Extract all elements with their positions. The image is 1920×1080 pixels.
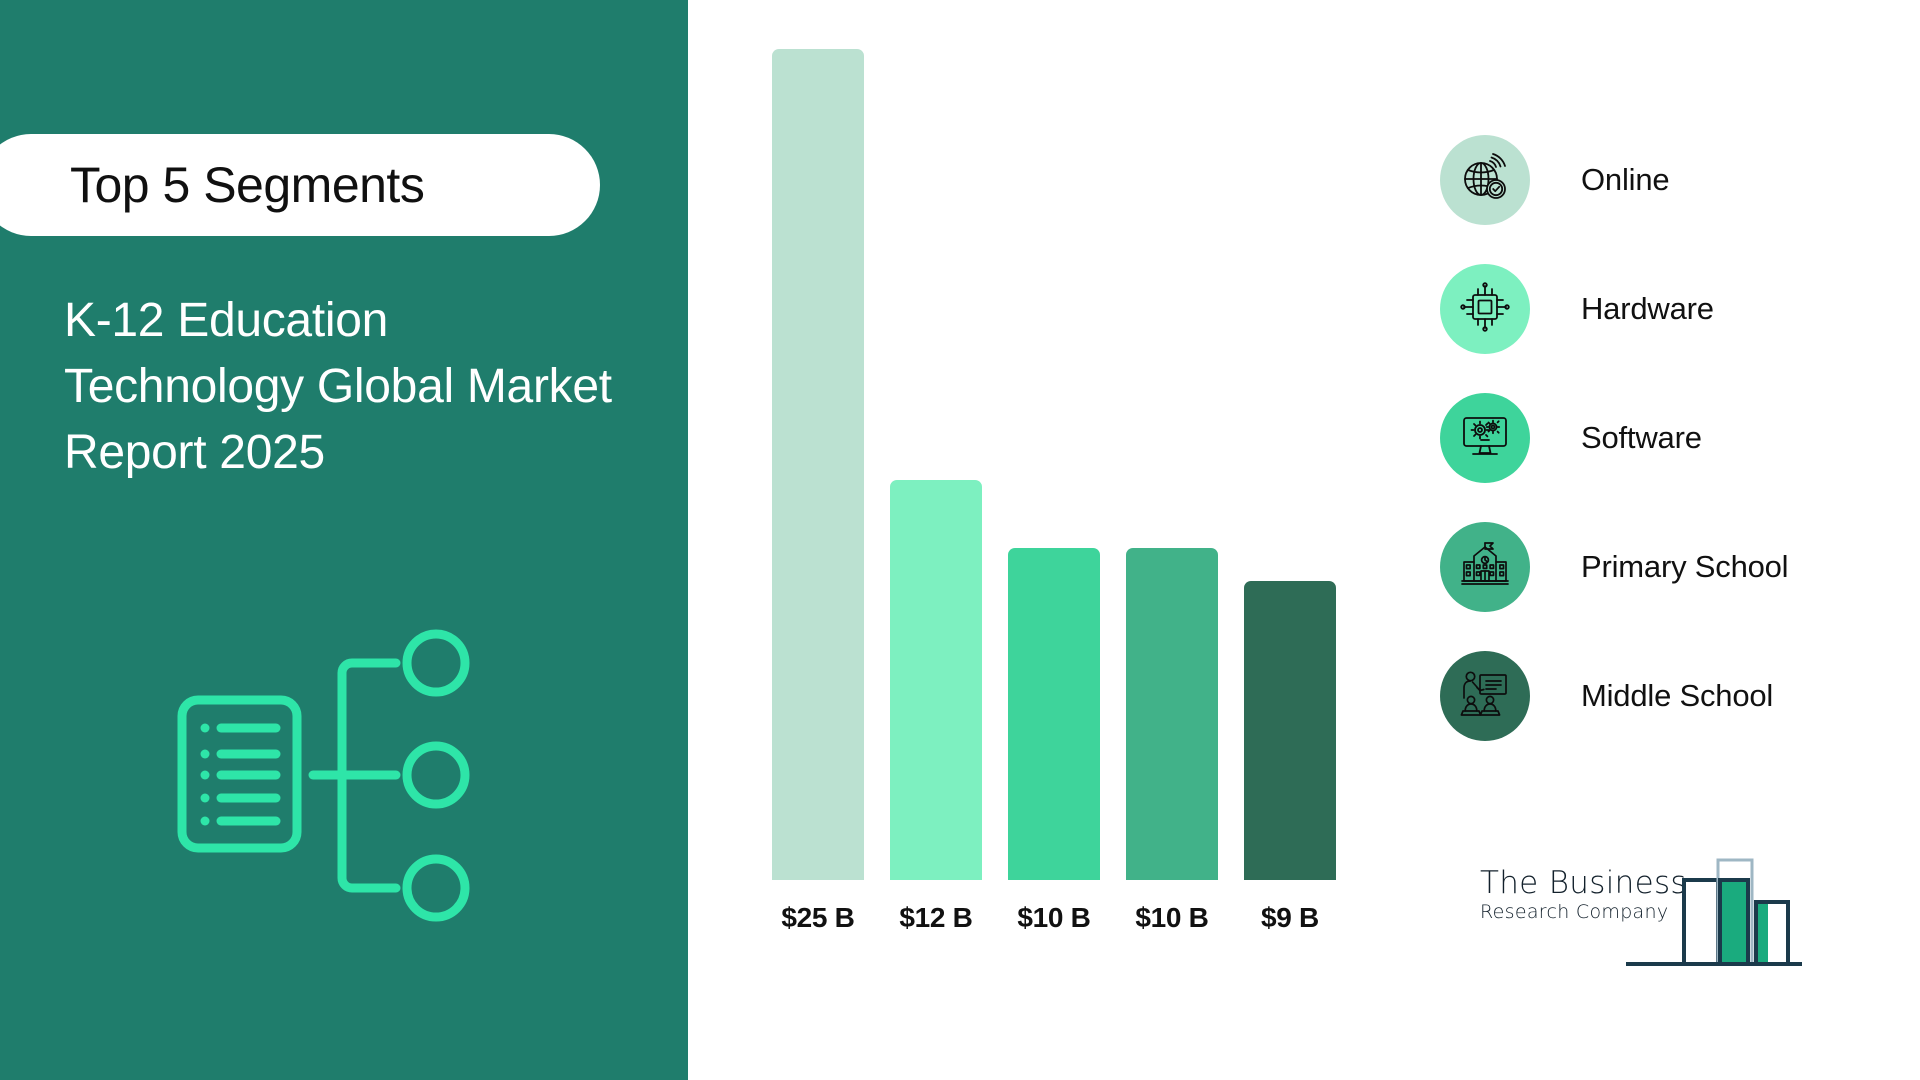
legend-badge-primary-school bbox=[1440, 522, 1530, 612]
bar-column-middle-school bbox=[1244, 581, 1336, 880]
bar-value-label: $9 B bbox=[1220, 902, 1360, 934]
bar-hardware bbox=[890, 480, 982, 880]
bar-middle-school bbox=[1244, 581, 1336, 880]
bar-column-software bbox=[1008, 548, 1100, 880]
segmentation-diagram-icon bbox=[168, 608, 508, 938]
bar-online bbox=[772, 49, 864, 880]
infographic-canvas: Top 5 Segments K-12 Education Technology… bbox=[0, 0, 1920, 1080]
left-panel: Top 5 Segments K-12 Education Technology… bbox=[0, 0, 688, 1080]
monitor-gears-icon bbox=[1459, 410, 1511, 467]
top-segments-badge-label: Top 5 Segments bbox=[70, 160, 424, 210]
bar-primary-school bbox=[1126, 548, 1218, 880]
legend-label-software: Software bbox=[1581, 420, 1702, 456]
bar-column-online bbox=[772, 49, 864, 880]
legend-item-software[interactable]: Software bbox=[1440, 393, 1870, 483]
bar-chart-logo-mark bbox=[1606, 858, 1806, 973]
cpu-chip-icon bbox=[1459, 281, 1511, 338]
legend-badge-online bbox=[1440, 135, 1530, 225]
globe-wifi-icon bbox=[1459, 152, 1511, 209]
legend-item-primary-school[interactable]: Primary School bbox=[1440, 522, 1870, 612]
top-segments-badge: Top 5 Segments bbox=[0, 134, 600, 236]
page-title: K-12 Education Technology Global Market … bbox=[64, 288, 624, 487]
bar-column-hardware bbox=[890, 480, 982, 880]
legend-item-hardware[interactable]: Hardware bbox=[1440, 264, 1870, 354]
legend-badge-middle-school bbox=[1440, 651, 1530, 741]
bar-chart: $25 B $12 B $10 B $10 B $9 B bbox=[772, 0, 1342, 880]
legend-item-middle-school[interactable]: Middle School bbox=[1440, 651, 1870, 741]
legend-badge-software bbox=[1440, 393, 1530, 483]
legend-label-hardware: Hardware bbox=[1581, 291, 1714, 327]
bar-column-primary-school bbox=[1126, 548, 1218, 880]
legend-item-online[interactable]: Online bbox=[1440, 135, 1870, 225]
legend-label-online: Online bbox=[1581, 162, 1669, 198]
bar-software bbox=[1008, 548, 1100, 880]
legend-label-middle-school: Middle School bbox=[1581, 678, 1773, 714]
legend-label-primary-school: Primary School bbox=[1581, 549, 1788, 585]
classroom-teacher-icon bbox=[1458, 667, 1512, 726]
legend-badge-hardware bbox=[1440, 264, 1530, 354]
company-logo[interactable]: The Business Research Company bbox=[1480, 862, 1810, 972]
school-building-icon bbox=[1458, 538, 1512, 597]
chart-legend: Online bbox=[1440, 135, 1870, 780]
